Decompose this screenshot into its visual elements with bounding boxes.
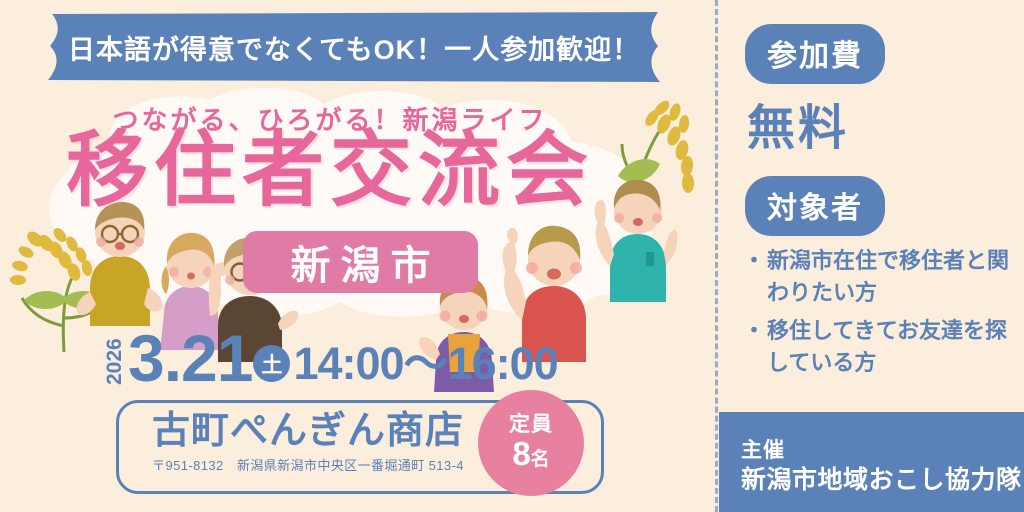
capacity-unit: 名 xyxy=(531,449,550,470)
fee-label-pill: 参加費 xyxy=(745,24,885,84)
capacity-number: 8 xyxy=(512,435,530,472)
venue-address: 〒951-8132 新潟県新潟市中央区一番堀通町 513-4 xyxy=(143,455,473,474)
organizer-name: 新潟市地域おこし協力隊 xyxy=(741,460,1022,496)
event-time: 14:00〜16:00 xyxy=(293,341,557,386)
event-day: 3.21 xyxy=(128,329,252,388)
fee-value: 無料 xyxy=(747,88,849,158)
target-label-pill: 対象者 xyxy=(745,176,885,236)
capacity-value: 8名 xyxy=(512,436,549,472)
list-item: ・ 新潟市在住で移住者と関わりたい方 xyxy=(743,245,1018,309)
event-weekday-badge: 土 xyxy=(253,345,290,382)
bullet-icon: ・ xyxy=(743,245,765,309)
list-item: ・ 移住してきてお友達を探している方 xyxy=(743,315,1018,379)
banner-text: 日本語が得意でなくてもOK！一人参加歓迎！ xyxy=(18,12,690,82)
footer-band: 主催 新潟市地域おこし協力隊 xyxy=(719,412,1024,512)
dashed-divider xyxy=(715,0,718,512)
target-item-text: 移住してきてお友達を探している方 xyxy=(767,315,1018,379)
venue-name: 古町ぺんぎん商店 xyxy=(143,411,473,453)
capacity-label: 定員 xyxy=(509,413,553,436)
city-badge: 新潟市 xyxy=(243,231,478,293)
event-year: 2026 xyxy=(104,327,125,385)
headline-title: 移住者交流会 xyxy=(0,130,660,212)
target-item-text: 新潟市在住で移住者と関わりたい方 xyxy=(767,245,1018,309)
event-date-row: 2026 3.21 土 14:00〜16:00 xyxy=(104,326,558,388)
bullet-icon: ・ xyxy=(743,315,765,379)
flyer-canvas: 日本語が得意でなくてもOK！一人参加歓迎！ つながる、ひろがる！新潟ライフ 移住… xyxy=(0,0,1024,512)
capacity-badge: 定員 8名 xyxy=(478,390,584,496)
target-list: ・ 新潟市在住で移住者と関わりたい方 ・ 移住してきてお友達を探している方 xyxy=(743,245,1018,385)
left-panel: 日本語が得意でなくてもOK！一人参加歓迎！ つながる、ひろがる！新潟ライフ 移住… xyxy=(0,0,716,512)
